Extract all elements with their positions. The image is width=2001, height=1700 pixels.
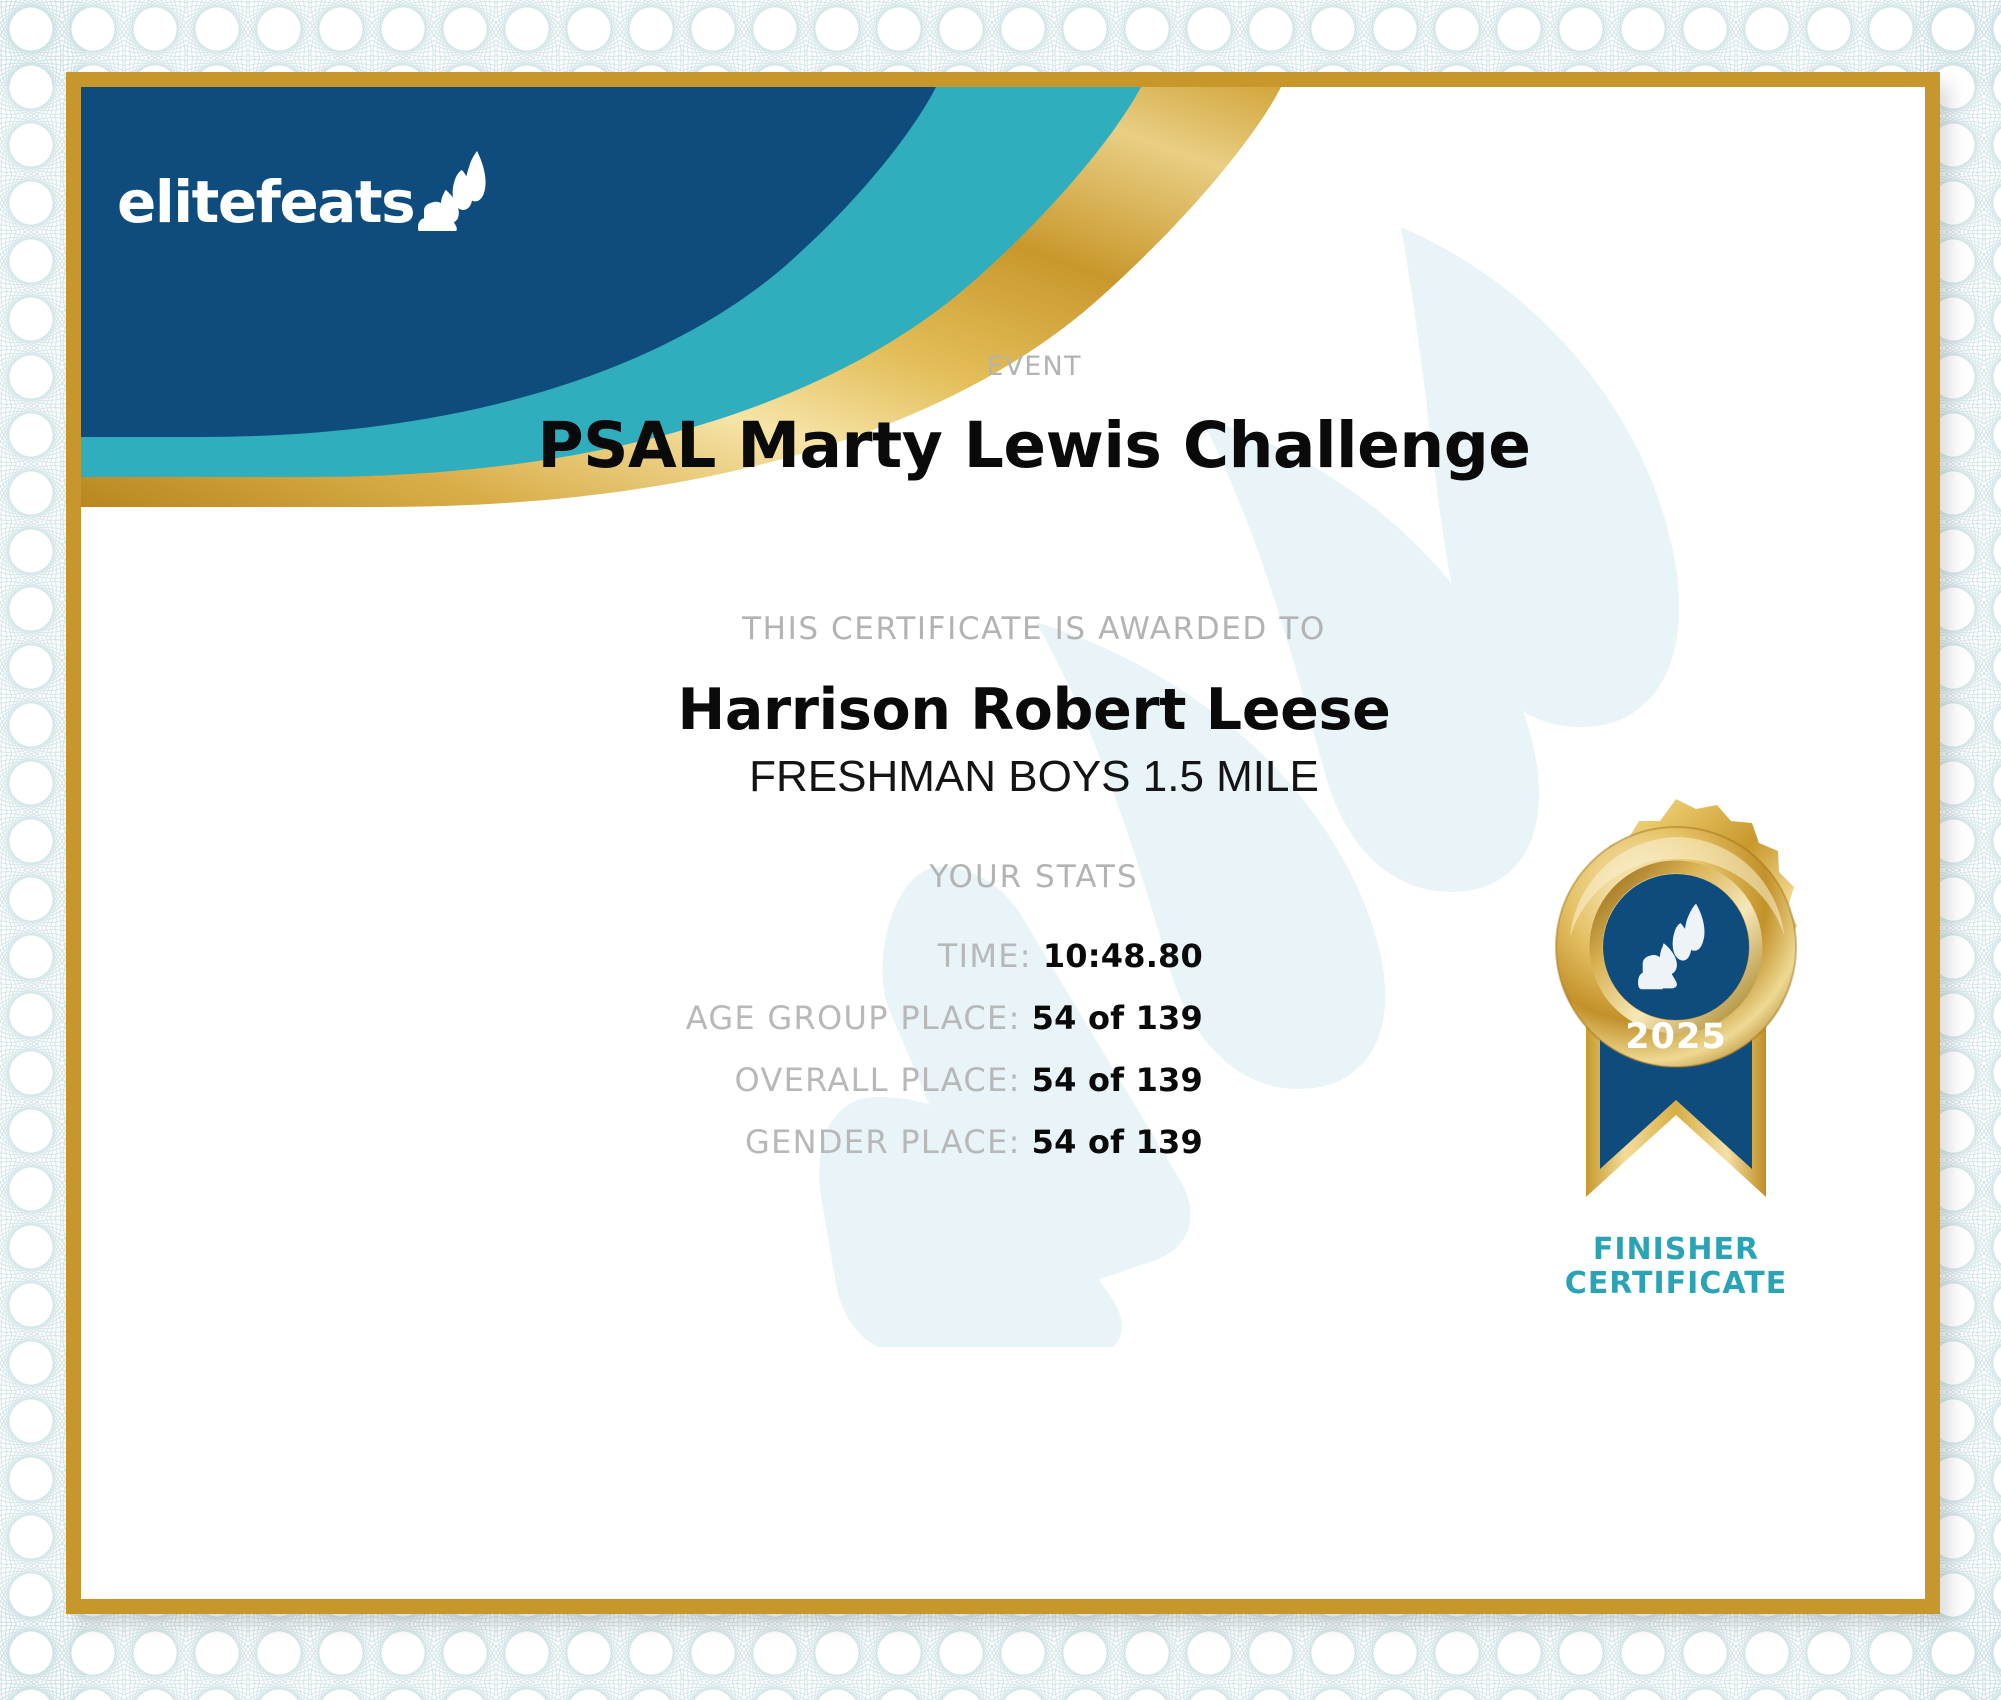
stat-row-time: TIME: 10:48.80 (81, 937, 1203, 975)
stat-key: OVERALL PLACE: (735, 1061, 1021, 1099)
certificate-gold-frame: elitefeats EVENT PSAL Marty Lewis Challe… (66, 72, 1940, 1614)
badge-caption-line1: FINISHER (1516, 1233, 1836, 1267)
stat-row-gender-place: GENDER PLACE: 54 of 139 (81, 1123, 1203, 1161)
stat-value: 54 of 139 (1032, 1061, 1203, 1099)
recipient-name: Harrison Robert Leese (81, 677, 1925, 743)
badge-caption: FINISHER CERTIFICATE (1516, 1233, 1836, 1300)
certificate-page: elitefeats EVENT PSAL Marty Lewis Challe… (0, 0, 2001, 1700)
stat-value: 54 of 139 (1032, 1123, 1203, 1161)
event-label: EVENT (81, 351, 1925, 382)
certificate-canvas: elitefeats EVENT PSAL Marty Lewis Challe… (81, 87, 1925, 1599)
stat-row-age-group-place: AGE GROUP PLACE: 54 of 139 (81, 999, 1203, 1037)
stat-key: TIME: (938, 937, 1032, 975)
finisher-medal-badge: 2025 FINISHER CERTIFICATE (1516, 797, 1836, 1300)
stat-value: 54 of 139 (1032, 999, 1203, 1037)
stat-value: 10:48.80 (1043, 937, 1203, 975)
recipient-division: FRESHMAN BOYS 1.5 MILE (81, 752, 1925, 802)
badge-caption-line2: CERTIFICATE (1516, 1267, 1836, 1301)
stat-key: AGE GROUP PLACE: (686, 999, 1021, 1037)
stats-list: TIME: 10:48.80 AGE GROUP PLACE: 54 of 13… (81, 937, 1203, 1185)
medal-ribbon-graphic: 2025 (1516, 797, 1836, 1227)
event-title: PSAL Marty Lewis Challenge (81, 409, 1925, 482)
badge-year: 2025 (1625, 1017, 1726, 1057)
stat-key: GENDER PLACE: (745, 1123, 1021, 1161)
awarded-to-label: THIS CERTIFICATE IS AWARDED TO (81, 611, 1925, 647)
stat-row-overall-place: OVERALL PLACE: 54 of 139 (81, 1061, 1203, 1099)
